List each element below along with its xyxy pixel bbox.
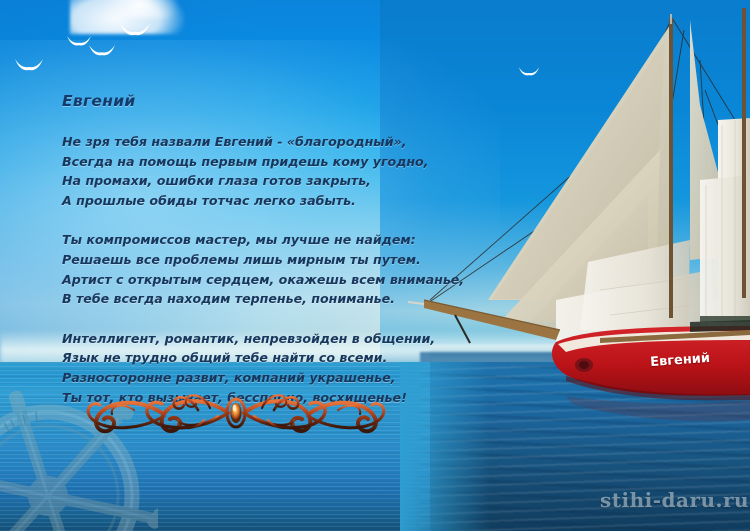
poem-line: Разносторонне развит, компаний украшенье… xyxy=(62,368,462,388)
poem-line: В тебе всегда находим терпенье, понимань… xyxy=(62,289,462,309)
poem-line: Артист с открытым сердцем, окажешь всем … xyxy=(62,270,462,290)
poem-block: Евгений Не зря тебя назвали Евгений - «б… xyxy=(62,92,462,407)
poem-line: Не зря тебя назвали Евгений - «благородн… xyxy=(62,132,462,152)
watermark: stihi-daru.ru xyxy=(600,488,749,512)
poem-line: А прошлые обиды тотчас легко забыть. xyxy=(62,191,462,211)
poem-line: Решаешь все проблемы лишь мирным ты путе… xyxy=(62,250,462,270)
poem-stanza: Не зря тебя назвали Евгений - «благородн… xyxy=(62,132,462,210)
poem-title: Евгений xyxy=(62,92,462,110)
poem-line: Интеллигент, романтик, непревзойден в об… xyxy=(62,329,462,349)
poem-stanza: Ты компромиссов мастер, мы лучше не найд… xyxy=(62,230,462,308)
ornament-gem xyxy=(231,403,242,423)
filigree-ornament-icon xyxy=(78,386,394,440)
poem-line: Язык не трудно общий тебе найти со всеми… xyxy=(62,348,462,368)
greeting-card-image: Евгений xyxy=(0,0,750,531)
poem-line: На промахи, ошибки глаза готов закрыть, xyxy=(62,171,462,191)
poem-line: Ты компромиссов мастер, мы лучше не найд… xyxy=(62,230,462,250)
poem-line: Всегда на помощь первым придешь кому уго… xyxy=(62,152,462,172)
